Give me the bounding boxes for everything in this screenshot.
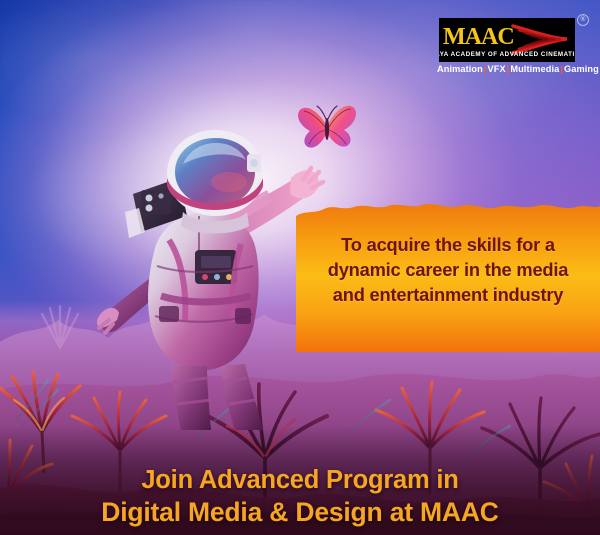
headline-line-2: Digital Media & Design at MAAC [0, 496, 600, 529]
maac-logo[interactable]: MAAC MAYA ACADEMY OF ADVANCED CINEMATICS… [437, 14, 589, 80]
callout-line-2: dynamic career in the media [296, 257, 600, 282]
logo-plate: MAAC MAYA ACADEMY OF ADVANCED CINEMATICS [439, 18, 575, 62]
callout-box: To acquire the skills for a dynamic care… [296, 202, 600, 352]
discipline-animation: Animation [437, 64, 483, 74]
headline-line-1: Join Advanced Program in [0, 464, 600, 496]
logo-tagline-text: MAYA ACADEMY OF ADVANCED CINEMATICS [439, 51, 575, 58]
discipline-multimedia: Multimedia [510, 64, 559, 74]
discipline-vfx: VFX [488, 64, 506, 74]
logo-disciplines: Animation|VFX|Multimedia|Gaming [437, 64, 577, 74]
poster-root: To acquire the skills for a dynamic care… [0, 0, 600, 535]
registered-trademark-icon: ® [577, 14, 589, 26]
discipline-gaming: Gaming [564, 64, 599, 74]
butterfly-icon [296, 100, 358, 156]
astronaut-illustration [95, 120, 325, 430]
logo-wordmark-text: MAAC [443, 24, 514, 50]
callout-line-3: and entertainment industry [296, 282, 600, 307]
headline: Join Advanced Program in Digital Media &… [0, 464, 600, 530]
callout-text: To acquire the skills for a dynamic care… [296, 232, 600, 308]
callout-line-1: To acquire the skills for a [296, 232, 600, 257]
logo-artwork: MAAC MAYA ACADEMY OF ADVANCED CINEMATICS [439, 18, 575, 62]
